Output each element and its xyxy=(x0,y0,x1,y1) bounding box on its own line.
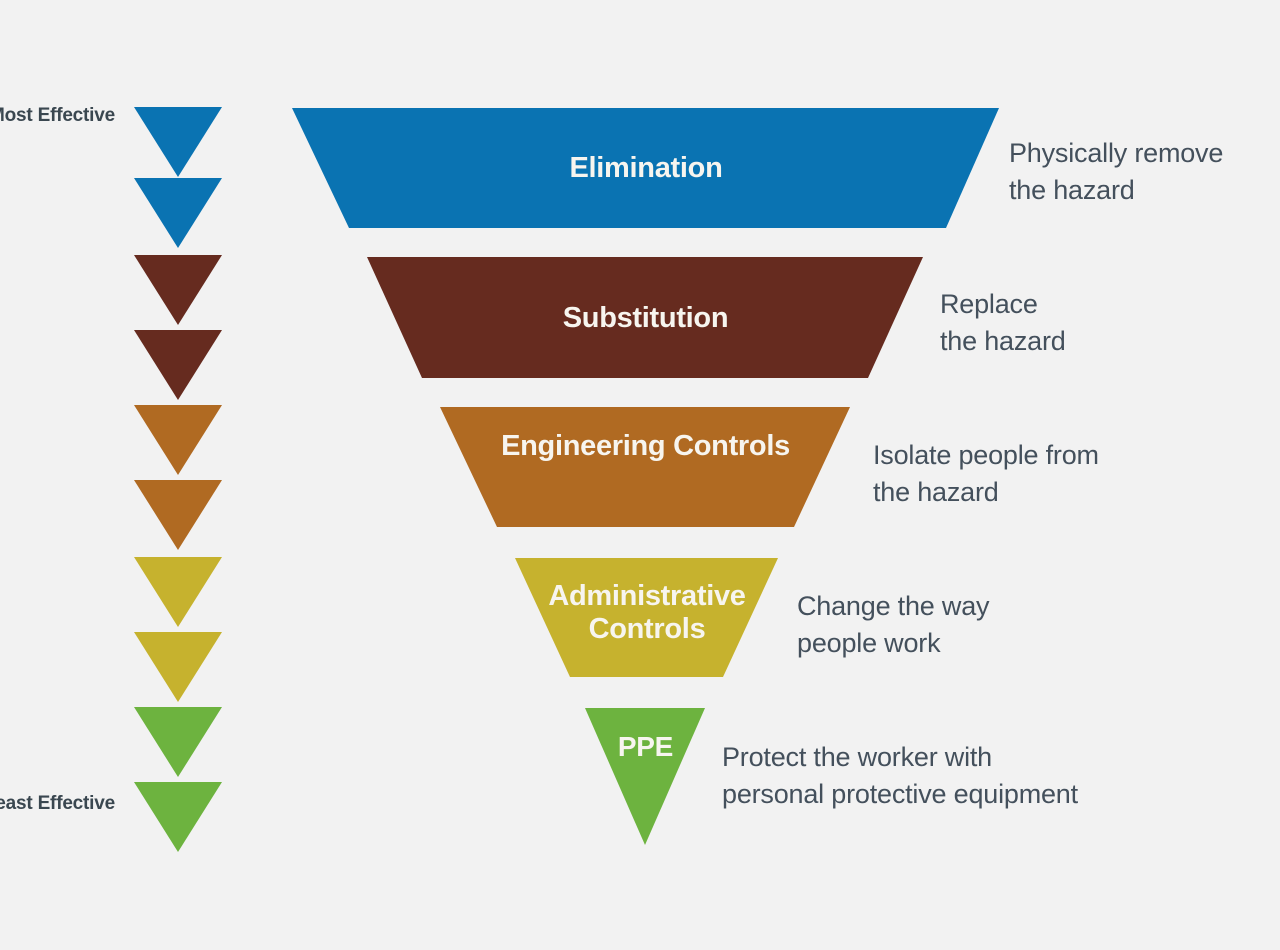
scale-arrow-4 xyxy=(134,330,222,400)
funnel-description-elimination: Physically remove the hazard xyxy=(1009,135,1279,209)
engineering-controls-shape xyxy=(440,407,851,528)
scale-label-least-effective: Least Effective xyxy=(0,793,115,815)
scale-arrow-2 xyxy=(134,178,222,248)
scale-arrow-3 xyxy=(134,255,222,325)
scale-arrow-8 xyxy=(134,632,222,702)
funnel-description-engineering-controls: Isolate people from the hazard xyxy=(873,437,1163,511)
scale-arrow-1 xyxy=(134,107,222,177)
funnel-level-engineering-controls[interactable]: Engineering Controls xyxy=(440,407,851,528)
funnel-description-administrative-controls: Change the way people work xyxy=(797,588,1057,662)
hierarchy-of-controls-diagram: Most Effective Least Effective Eliminati… xyxy=(0,0,1280,950)
funnel-level-administrative-controls[interactable]: Administrative Controls xyxy=(515,558,779,678)
funnel-level-substitution[interactable]: Substitution xyxy=(367,257,924,379)
substitution-shape xyxy=(367,257,924,379)
funnel-level-ppe[interactable]: PPE xyxy=(585,708,706,846)
funnel-description-ppe: Protect the worker with personal protect… xyxy=(722,739,1162,813)
scale-arrow-7 xyxy=(134,557,222,627)
funnel-level-elimination[interactable]: Elimination xyxy=(292,108,1000,229)
scale-arrow-10 xyxy=(134,782,222,852)
scale-arrow-5 xyxy=(134,405,222,475)
administrative-controls-shape xyxy=(515,558,779,678)
ppe-shape xyxy=(585,708,706,846)
funnel-description-substitution: Replace the hazard xyxy=(940,286,1190,360)
scale-arrow-9 xyxy=(134,707,222,777)
scale-arrow-6 xyxy=(134,480,222,550)
elimination-shape xyxy=(292,108,1000,229)
scale-label-most-effective: Most Effective xyxy=(0,105,115,127)
